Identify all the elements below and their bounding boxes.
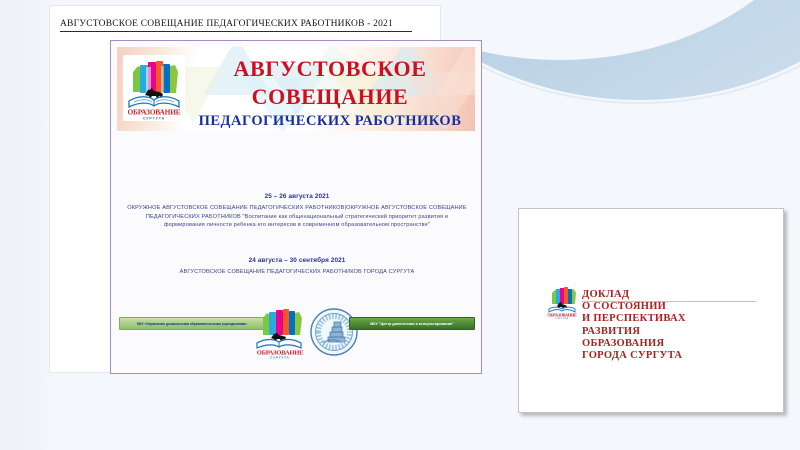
obrazovanie-surguta-logo-icon: ОБРАЗОВАНИЕ СУРГУТА [253,305,307,359]
event-banner: ОБРАЗОВАНИЕ СУРГУТА АВГУСТОВСКОЕ СОВЕЩАН… [117,47,475,131]
section-date-1: 25 – 26 августа 2021 [111,193,482,200]
partner-label-diagnostics-center[interactable]: МКУ "Центр диагностики и консультировани… [349,317,475,330]
report-title-line: И ПЕРСПЕКТИВАХ [582,313,772,325]
report-title-line: ГОРОДА СУРГУТА [582,350,772,362]
obrazovanie-surguta-logo-icon: ОБРАЗОВАНИЕ СУРГУТА [547,285,577,319]
banner-text-block: АВГУСТОВСКОЕ СОВЕЩАНИЕ ПЕДАГОГИЧЕСКИХ РА… [191,55,469,131]
page-title: АВГУСТОВСКОЕ СОВЕЩАНИЕ ПЕДАГОГИЧЕСКИХ РА… [60,19,435,29]
open-book-shape [129,97,179,107]
banner-title: АВГУСТОВСКОЕ СОВЕЩАНИЕ [191,55,469,111]
obrazovanie-surguta-logo-icon: ОБРАЗОВАНИЕ СУРГУТА [123,55,185,121]
content-frame: ОБРАЗОВАНИЕ СУРГУТА АВГУСТОВСКОЕ СОВЕЩАН… [110,40,482,374]
banner-logo-container: ОБРАЗОВАНИЕ СУРГУТА [123,55,185,121]
report-cover-card[interactable]: ОБРАЗОВАНИЕ СУРГУТА ДОКЛАД О СОСТОЯНИИ И… [518,208,784,413]
partner-logos-row: МКУ «Управление дошкольными образователь… [111,303,482,361]
svg-text:СУРГУТА: СУРГУТА [270,356,289,360]
center-seal-logo-icon [309,307,359,357]
logo-subword: СУРГУТА [143,117,165,121]
banner-subtitle: ПЕДАГОГИЧЕСКИХ РАБОТНИКОВ [191,111,469,131]
partner-label-preschool[interactable]: МКУ «Управление дошкольными образователь… [119,317,265,330]
svg-text:ОБРАЗОВАНИЕ: ОБРАЗОВАНИЕ [547,313,577,318]
section-body-2: АВГУСТОВСКОЕ СОВЕЩАНИЕ ПЕДАГОГИЧЕСКИХ РА… [111,268,482,277]
section-body-1: ОКРУЖНОЕ АВГУСТОВСКОЕ СОВЕЩАНИЕ ПЕДАГОГИ… [111,204,482,230]
section-block-2: 24 августа – 30 сентября 2021 АВГУСТОВСК… [111,257,482,277]
report-title-block: ДОКЛАД О СОСТОЯНИИ И ПЕРСПЕКТИВАХ РАЗВИТ… [582,289,772,362]
background-left-tint [0,0,56,450]
report-title-line: РАЗВИТИЯ [582,326,772,338]
report-title-line: ДОКЛАД [582,289,772,301]
report-title-line: ОБРАЗОВАНИЯ [582,338,772,350]
document-page: АВГУСТОВСКОЕ СОВЕЩАНИЕ ПЕДАГОГИЧЕСКИХ РА… [50,6,440,372]
section-block-1: 25 – 26 августа 2021 ОКРУЖНОЕ АВГУСТОВСК… [111,193,482,230]
svg-text:СУРГУТА: СУРГУТА [555,317,568,319]
logo-word: ОБРАЗОВАНИЕ [127,108,180,117]
report-title-line: О СОСТОЯНИИ [582,301,772,313]
page-title-underline [60,31,412,32]
section-date-2: 24 августа – 30 сентября 2021 [111,257,482,264]
